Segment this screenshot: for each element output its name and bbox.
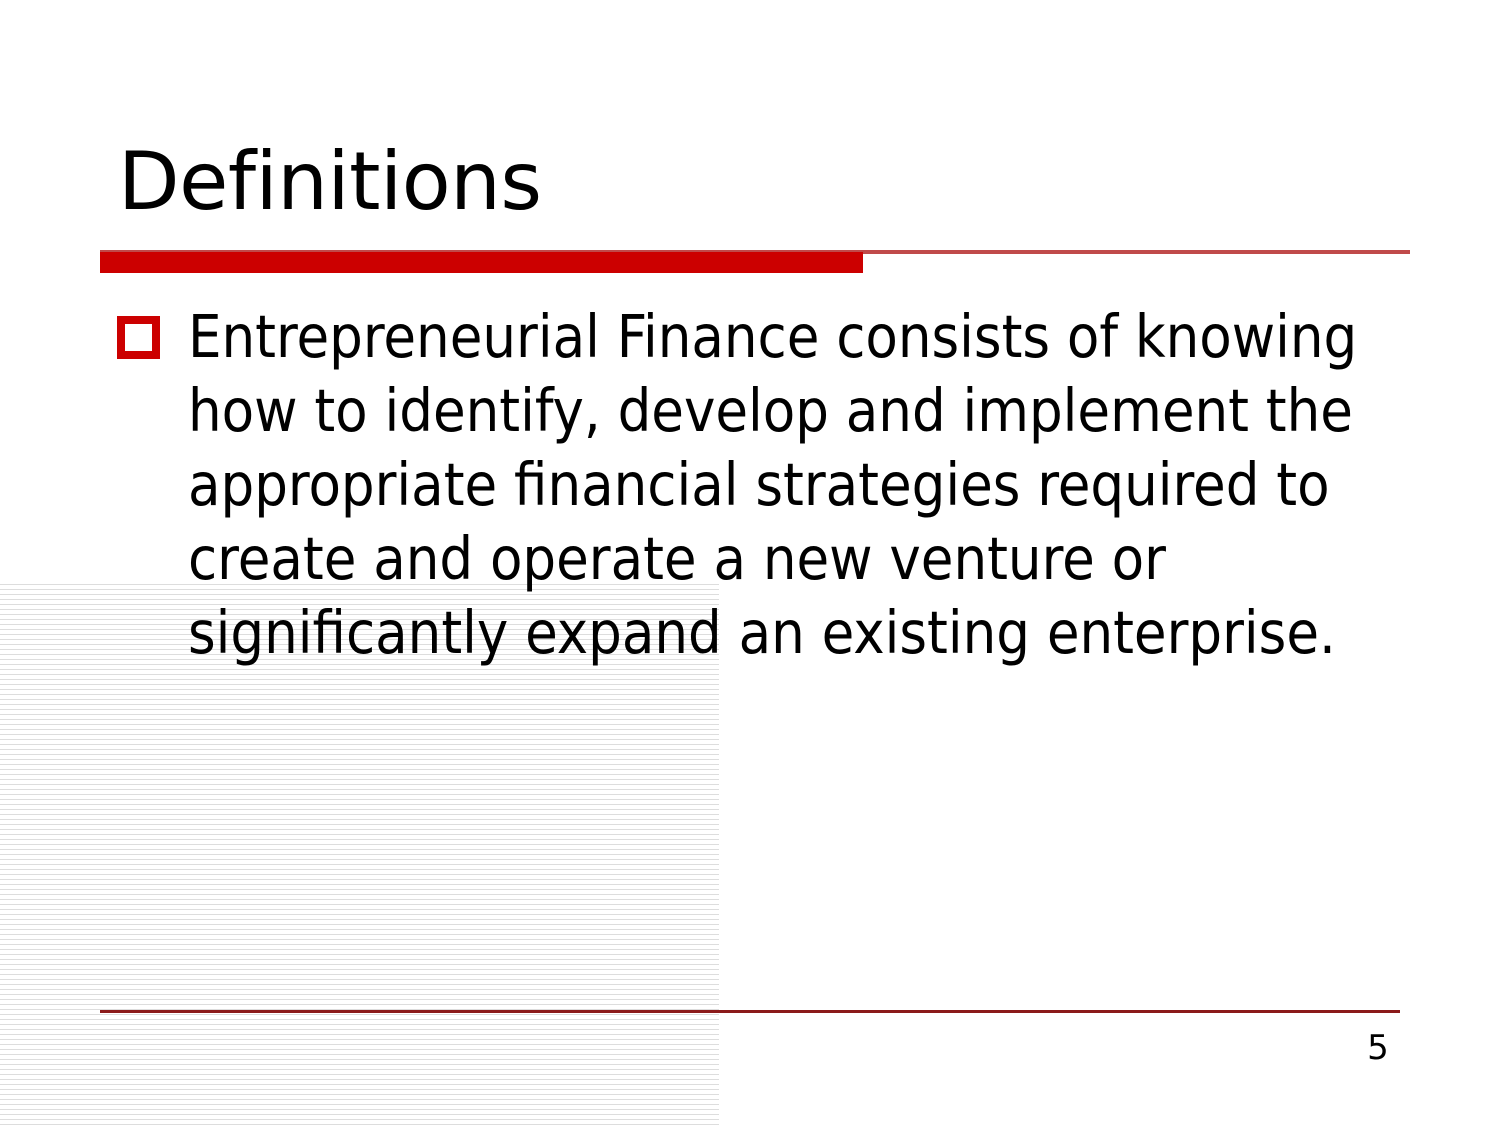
page-title: Definitions [118,140,1398,224]
slide: Definitions Entrepreneurial Finance cons… [0,0,1500,1125]
title-divider-thick-bar [100,252,863,273]
list-item: Entrepreneurial Finance consists of know… [100,300,1420,670]
page-number: 5 [1340,1028,1416,1068]
footer-divider [100,1010,1400,1013]
square-bullet-icon [117,316,160,359]
bullet-item-label: Entrepreneurial Finance consists of know… [188,300,1420,670]
